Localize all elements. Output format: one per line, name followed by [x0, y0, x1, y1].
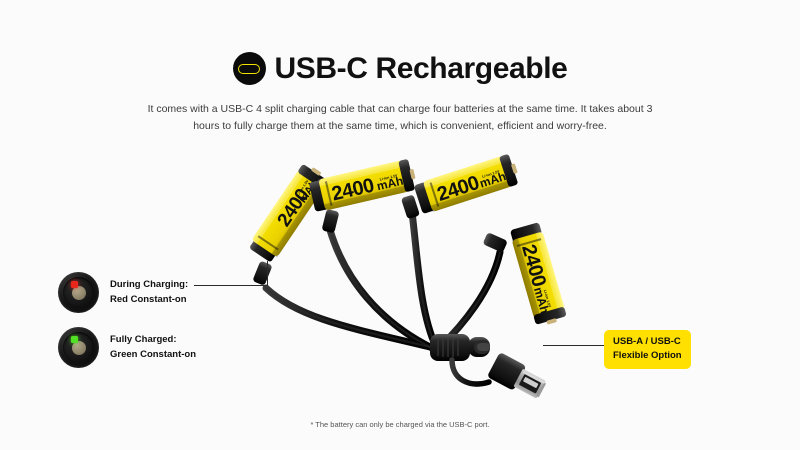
callout-line-1: USB-A / USB-C — [613, 336, 681, 347]
svg-text:Li-ion 1.5V: Li-ion 1.5V — [379, 174, 398, 182]
legend-line-1: Fully Charged: — [110, 334, 177, 345]
svg-text:2400: 2400 — [274, 185, 314, 230]
svg-text:2400: 2400 — [330, 174, 377, 205]
usb-c-connector — [430, 334, 490, 361]
leader-line-charging-h — [194, 285, 268, 286]
svg-text:Li-ion 1.5V: Li-ion 1.5V — [482, 169, 501, 179]
battery-2-connector — [322, 209, 340, 233]
svg-text:2400: 2400 — [517, 242, 550, 289]
callout-label: USB-A / USB-C Flexible Option — [613, 335, 682, 364]
callout-line-2: Flexible Option — [613, 350, 682, 361]
battery-1-connector — [252, 261, 272, 286]
battery-4-connector — [483, 232, 508, 253]
usb-a-adapter — [487, 352, 549, 403]
legend-line-1: During Charging: — [110, 279, 188, 290]
slide-canvas: 2400 mAh Li-ion 1.5V 2400 mAh Li-ion 1.5… — [0, 0, 800, 450]
legend-line-2: Red Constant-on — [110, 294, 187, 305]
adapter-jumper-cable — [452, 360, 489, 384]
led-status-legend: During Charging: Red Constant-on Fully C… — [58, 272, 196, 382]
svg-text:mAh: mAh — [297, 178, 321, 205]
legend-item-during-charging: During Charging: Red Constant-on — [58, 272, 196, 313]
battery-4: 2400 mAh Li-ion 1.5V — [509, 222, 568, 328]
led-indicator-red-icon — [58, 272, 99, 313]
legend-line-2: Green Constant-on — [110, 349, 196, 360]
footnote-text: * The battery can only be charged via th… — [0, 420, 800, 429]
legend-label-fully-charged: Fully Charged: Green Constant-on — [110, 333, 196, 362]
page-subtitle: It comes with a USB-C 4 split charging c… — [140, 101, 660, 136]
svg-text:Li-ion 1.5V: Li-ion 1.5V — [296, 179, 310, 197]
usb-c-port-icon — [233, 52, 266, 85]
page-title: USB-C Rechargeable — [275, 54, 568, 84]
charging-cables — [266, 212, 500, 348]
battery-1: 2400 mAh Li-ion 1.5V — [247, 161, 330, 264]
svg-text:mAh: mAh — [375, 174, 404, 194]
svg-text:Li-ion 1.5V: Li-ion 1.5V — [543, 289, 552, 308]
legend-item-fully-charged: Fully Charged: Green Constant-on — [58, 327, 196, 368]
header-block: USB-C Rechargeable It comes with a USB-C… — [0, 52, 800, 136]
battery-3: 2400 mAh Li-ion 1.5V — [413, 153, 521, 215]
svg-text:mAh: mAh — [478, 169, 508, 191]
leader-line-charging-v — [267, 261, 268, 286]
legend-label-during-charging: During Charging: Red Constant-on — [110, 278, 188, 307]
leader-line-usb-option — [543, 345, 605, 346]
svg-text:2400: 2400 — [435, 172, 483, 206]
svg-text:mAh: mAh — [531, 286, 552, 315]
usb-option-callout: USB-A / USB-C Flexible Option — [604, 330, 691, 369]
led-indicator-green-icon — [58, 327, 99, 368]
title-row: USB-C Rechargeable — [0, 52, 800, 85]
battery-2: 2400 mAh Li-ion 1.5V — [309, 158, 419, 213]
battery-3-connector — [401, 194, 420, 219]
